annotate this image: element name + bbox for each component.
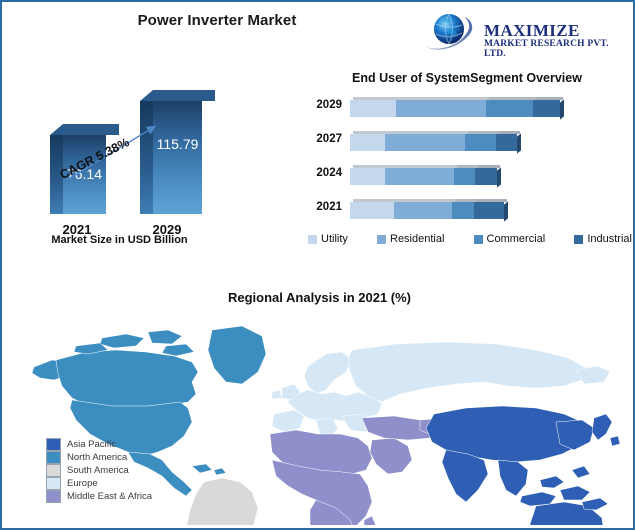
legend-item-residential: Residential — [377, 233, 444, 245]
segment-residential — [396, 97, 486, 117]
map-legend-label-south-america: South America — [67, 465, 129, 476]
segment-industrial — [533, 97, 560, 117]
map-region-south-america — [186, 478, 258, 525]
legend-item-commercial: Commercial — [474, 233, 546, 245]
market-size-chart: 76.14 2021 115.79 2029 CAGR 5.38% Market… — [12, 72, 262, 257]
segment-overview-chart: End User of SystemSegment Overview 2029 … — [302, 67, 632, 257]
bar-2029-value: 115.79 — [153, 136, 202, 152]
map-swatch-north-america — [46, 451, 61, 464]
legend-swatch-utility — [308, 235, 317, 244]
legend-item-utility: Utility — [308, 233, 348, 245]
stack-row-2027: 2027 — [302, 129, 632, 153]
legend-swatch-commercial — [474, 235, 483, 244]
segment-industrial — [475, 165, 497, 185]
legend-swatch-industrial — [574, 235, 583, 244]
map-swatch-middle-east-africa — [46, 490, 61, 503]
segment-industrial — [496, 131, 517, 151]
map-swatch-asia-pacific — [46, 438, 61, 451]
segment-residential — [394, 199, 452, 219]
stack-bar-2021 — [350, 199, 504, 219]
segment-utility — [350, 165, 385, 185]
map-legend-item-south-america: South America — [46, 464, 152, 477]
legend-label-residential: Residential — [390, 233, 444, 245]
segment-residential — [385, 131, 465, 151]
page-title: Power Inverter Market — [2, 12, 432, 29]
bar-2021-top — [50, 124, 119, 135]
map-legend-item-europe: Europe — [46, 477, 152, 490]
map-legend-item-asia-pacific: Asia Pacific — [46, 438, 152, 451]
map-legend-item-middle-east-africa: Middle East & Africa — [46, 490, 152, 503]
segment-residential — [385, 165, 454, 185]
map-legend-label-north-america: North America — [67, 452, 127, 463]
map-legend-label-asia-pacific: Asia Pacific — [67, 439, 116, 450]
legend-label-industrial: Industrial — [587, 233, 632, 245]
market-size-axis-label: Market Size in USD Billion — [12, 234, 227, 246]
map-swatch-south-america — [46, 464, 61, 477]
stack-row-2021-label: 2021 — [302, 201, 342, 213]
stack-bar-2029 — [350, 97, 560, 117]
bar-2029-top — [140, 90, 215, 101]
stack-bar-2027 — [350, 131, 517, 151]
segment-commercial — [465, 131, 496, 151]
map-legend-item-north-america: North America — [46, 451, 152, 464]
legend-label-commercial: Commercial — [487, 233, 546, 245]
segment-utility — [350, 131, 385, 151]
map-region-asia-pacific — [426, 406, 620, 525]
segment-chart-title: End User of SystemSegment Overview — [302, 71, 632, 85]
bar-2029-side — [140, 101, 153, 214]
logo-subtitle: MARKET RESEARCH PVT. LTD. — [484, 40, 622, 59]
segment-utility — [350, 199, 394, 219]
map-legend: Asia Pacific North America South America… — [46, 438, 152, 503]
infographic-page: Power Inverter Market MAXIMIZE — [0, 0, 635, 530]
company-logo: MAXIMIZE MARKET RESEARCH PVT. LTD. — [422, 10, 622, 58]
logo-name: MAXIMIZE — [484, 22, 622, 39]
stack-row-2021: 2021 — [302, 197, 632, 221]
stack-row-2024: 2024 — [302, 163, 632, 187]
stack-row-2027-label: 2027 — [302, 133, 342, 145]
segment-chart-legend: Utility Residential Commercial Industria… — [308, 233, 632, 245]
segment-commercial — [452, 199, 474, 219]
segment-commercial — [454, 165, 475, 185]
stack-row-2024-label: 2024 — [302, 167, 342, 179]
map-legend-label-middle-east-africa: Middle East & Africa — [67, 491, 152, 502]
bar-2029: 115.79 — [140, 90, 202, 214]
map-swatch-europe — [46, 477, 61, 490]
globe-icon — [422, 10, 484, 56]
bar-2029-front — [153, 101, 202, 214]
legend-item-industrial: Industrial — [574, 233, 632, 245]
segment-commercial — [486, 97, 533, 117]
stack-row-2029-label: 2029 — [302, 99, 342, 111]
segment-industrial — [474, 199, 504, 219]
segment-utility — [350, 97, 396, 117]
legend-label-utility: Utility — [321, 233, 348, 245]
stack-row-2029: 2029 — [302, 95, 632, 119]
map-legend-label-europe: Europe — [67, 478, 98, 489]
map-title: Regional Analysis in 2021 (%) — [2, 290, 635, 305]
stack-bar-2024 — [350, 165, 497, 185]
legend-swatch-residential — [377, 235, 386, 244]
